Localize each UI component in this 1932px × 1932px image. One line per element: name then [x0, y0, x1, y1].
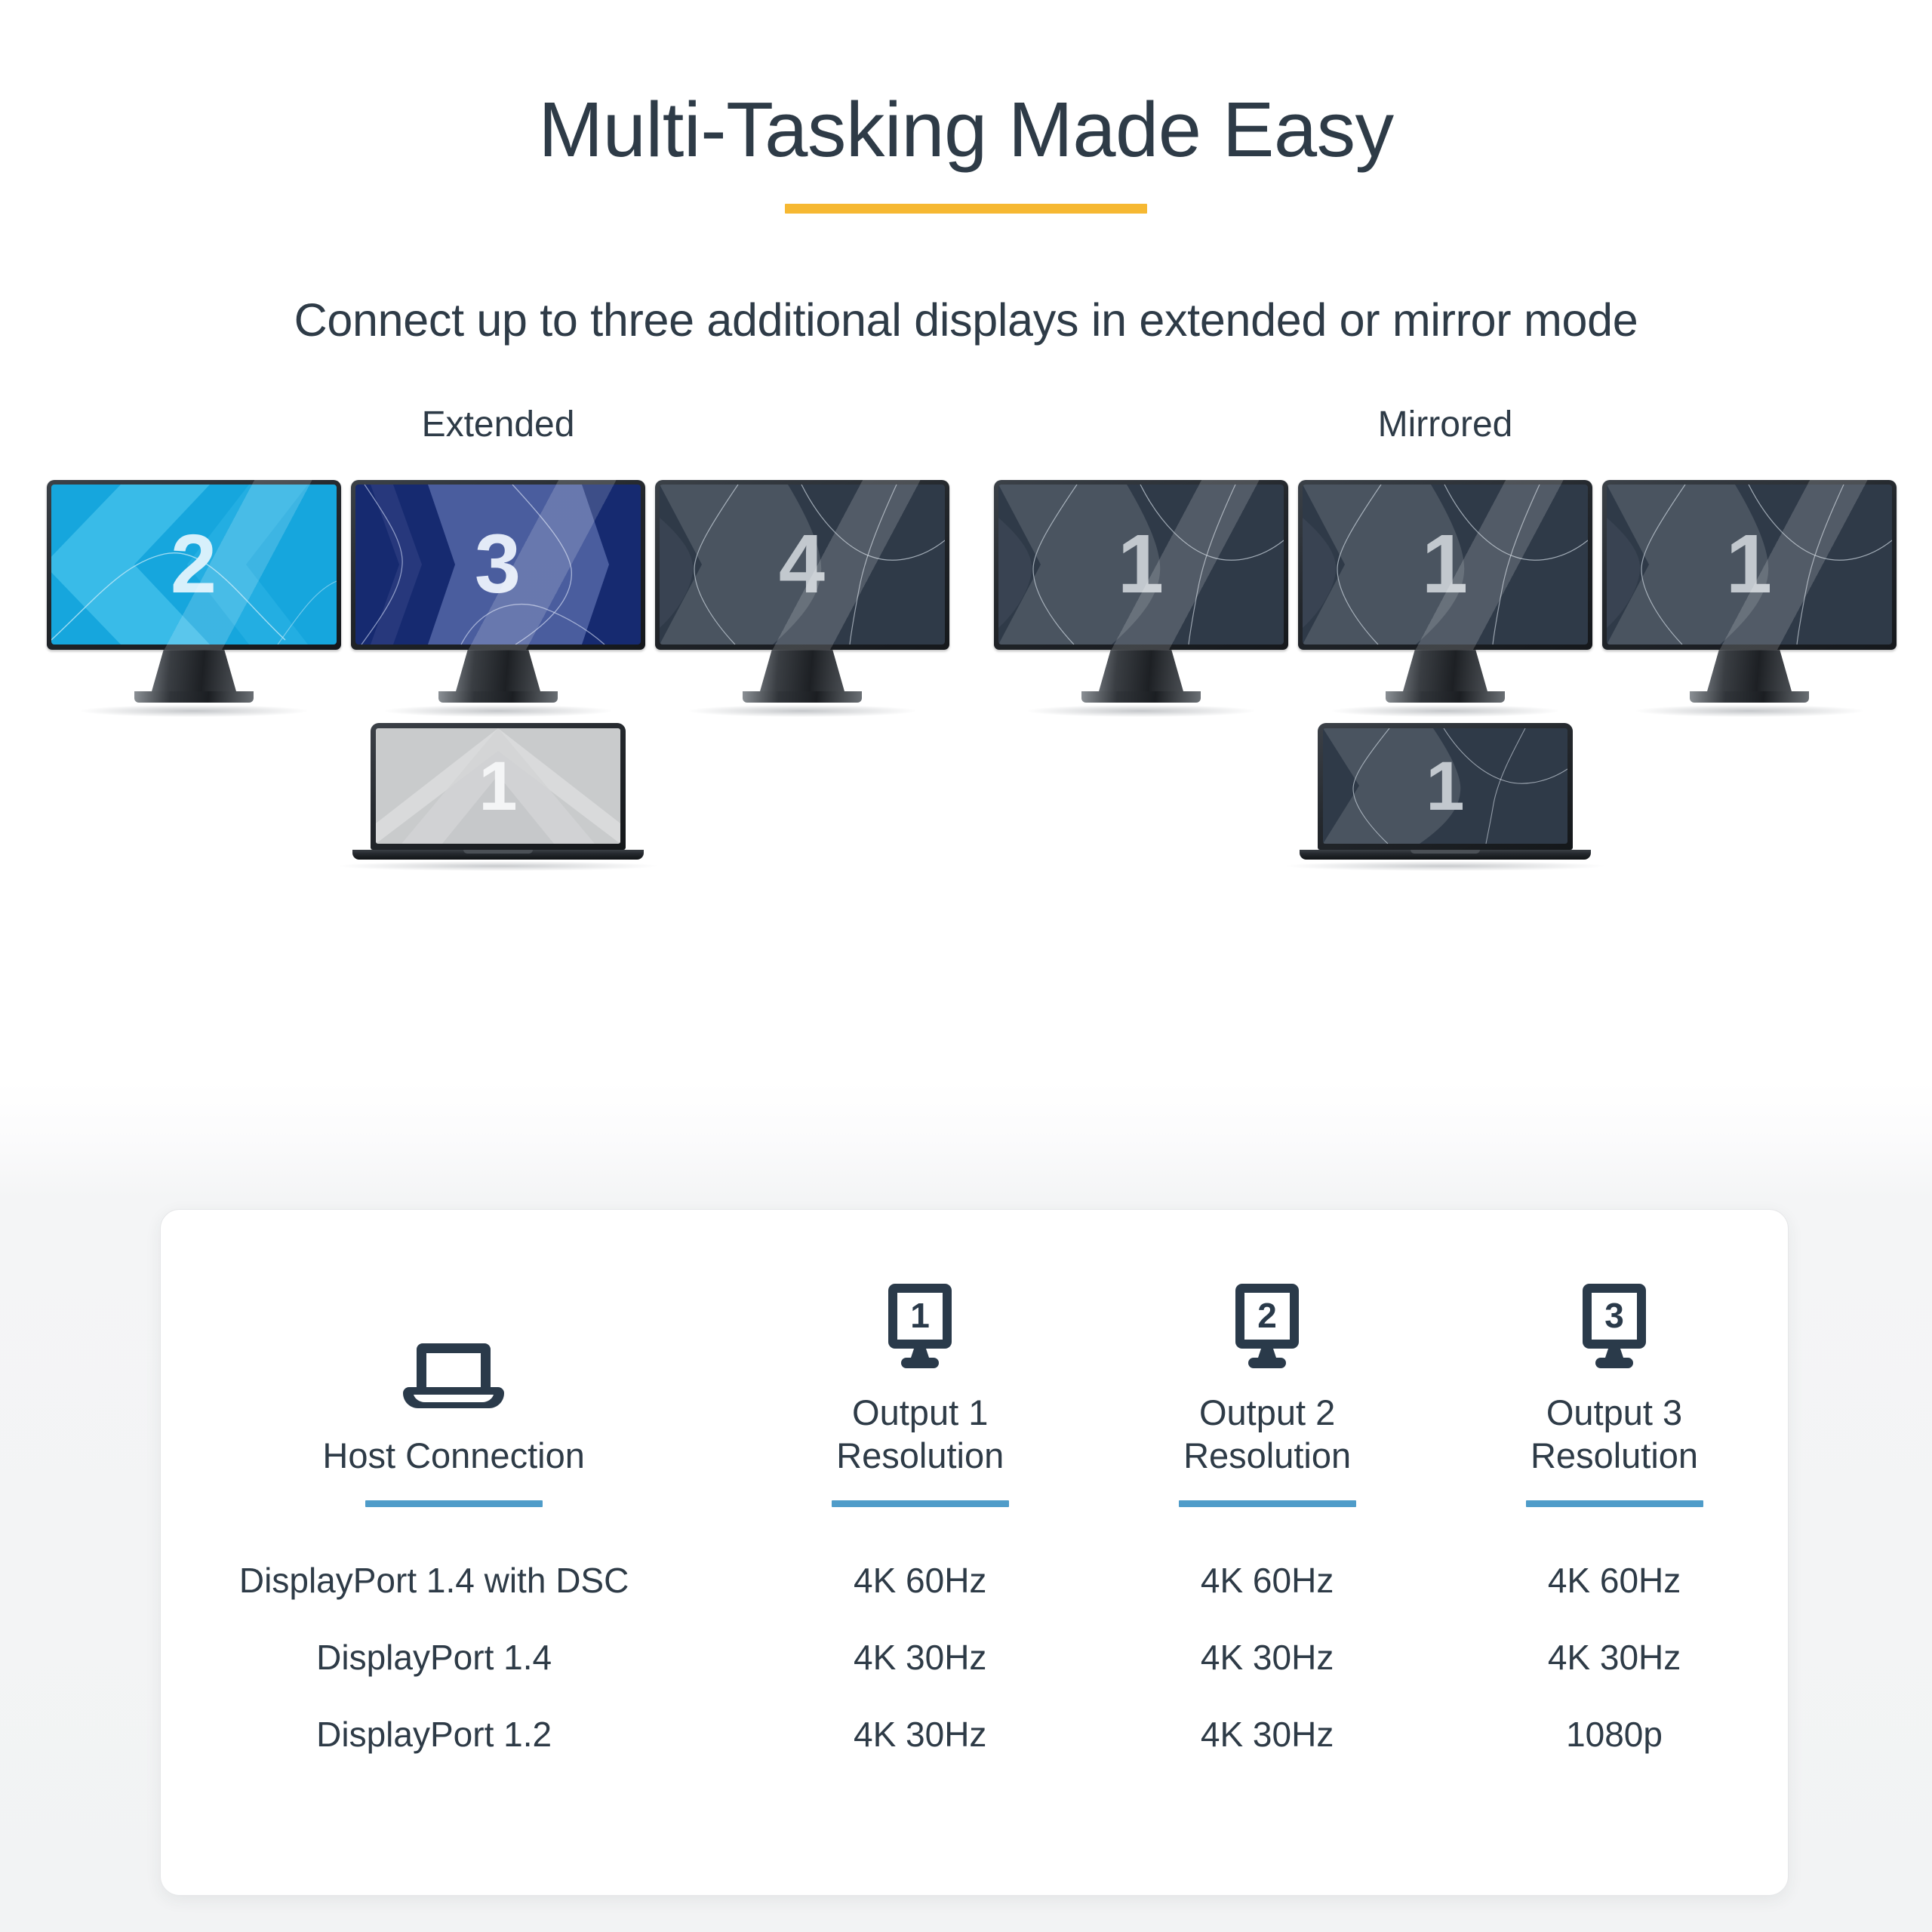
monitor-neck	[1403, 650, 1487, 691]
cell-output-3: 4K 30Hz	[1441, 1601, 1788, 1678]
monitor-base	[1690, 691, 1809, 703]
header-rule-wrap	[1441, 1478, 1788, 1510]
table-header-output-2: 2 Output 2 Resolution	[1094, 1210, 1441, 1510]
mode-label-extended: Extended	[45, 404, 951, 445]
monitor-row-extended: 2	[45, 480, 951, 717]
laptop-number: 1	[376, 752, 620, 821]
monitor-screen: 1	[1303, 485, 1588, 645]
monitor-bezel: 1	[994, 480, 1288, 650]
laptop-notch	[463, 850, 533, 854]
cell-output-3: 4K 60Hz	[1441, 1510, 1788, 1601]
page-header: Multi-Tasking Made Easy Connect up to th…	[0, 0, 1932, 346]
cell-output-1: 4K 30Hz	[746, 1678, 1094, 1755]
monitor-bezel: 1	[1602, 480, 1897, 650]
header-rule-wrap	[161, 1478, 746, 1510]
header-accent-rule	[832, 1500, 1009, 1507]
monitor-number: 4	[660, 523, 945, 606]
cell-output-1: 4K 60Hz	[746, 1510, 1094, 1601]
monitor-neck	[760, 650, 844, 691]
monitor-number: 1	[998, 523, 1284, 606]
monitor-icon: 1	[746, 1261, 1094, 1374]
resolution-table: Host Connection 1	[161, 1210, 1788, 1755]
monitor-screen: 3	[355, 485, 641, 645]
monitor-mirrored-1a: 1	[994, 480, 1288, 717]
page-subtitle: Connect up to three additional displays …	[0, 294, 1932, 346]
monitor-neck	[1099, 650, 1183, 691]
monitor-extended-4: 4	[655, 480, 949, 717]
header-accent-rule	[1179, 1500, 1356, 1507]
monitor-shadow	[1028, 705, 1254, 717]
table-header-label: Output 2 Resolution	[1094, 1391, 1441, 1478]
resolution-spec-card: Host Connection 1	[160, 1209, 1789, 1896]
monitor-number: 1	[1607, 523, 1892, 606]
cell-host-connection: DisplayPort 1.4 with DSC	[161, 1510, 746, 1601]
cell-output-2: 4K 30Hz	[1094, 1678, 1441, 1755]
monitor-mirrored-1c: 1	[1602, 480, 1897, 717]
table-header-output-3: 3 Output 3 Resolution	[1441, 1210, 1788, 1510]
table-header-host-connection: Host Connection	[161, 1210, 746, 1510]
monitor-bezel: 2	[47, 480, 341, 650]
cell-output-2: 4K 60Hz	[1094, 1510, 1441, 1601]
laptop-row-mirrored: 1	[992, 723, 1898, 871]
laptop-shadow	[1287, 861, 1604, 871]
title-accent-rule	[785, 204, 1147, 214]
laptop-base	[1300, 850, 1591, 860]
monitor-neck	[1707, 650, 1792, 691]
monitor-screen: 1	[1607, 485, 1892, 645]
header-rule-wrap	[1094, 1478, 1441, 1510]
monitor-base	[1081, 691, 1201, 703]
monitor-icon: 2	[1094, 1261, 1441, 1374]
page-title: Multi-Tasking Made Easy	[0, 89, 1932, 171]
cell-output-3: 1080p	[1441, 1678, 1788, 1755]
laptop-screen: 1	[376, 728, 620, 844]
monitor-row-mirrored: 1	[992, 480, 1898, 717]
mode-group-mirrored: Mirrored	[992, 404, 1898, 871]
monitor-extended-2: 2	[47, 480, 341, 717]
monitor-number: 3	[355, 523, 641, 606]
laptop-lid: 1	[371, 723, 626, 850]
table-row: DisplayPort 1.2 4K 30Hz 4K 30Hz 1080p	[161, 1678, 1788, 1755]
monitor-shadow	[81, 705, 307, 717]
table-header-label: Output 1 Resolution	[746, 1391, 1094, 1478]
table-header-label: Output 3 Resolution	[1441, 1391, 1788, 1478]
laptop-notch	[1411, 850, 1480, 854]
monitor-base	[134, 691, 254, 703]
header-accent-rule	[365, 1500, 543, 1507]
monitor-icon: 3	[1441, 1261, 1788, 1374]
header-rule-wrap	[746, 1478, 1094, 1510]
laptop-screen: 1	[1323, 728, 1567, 844]
monitor-icon-number: 1	[910, 1296, 930, 1335]
monitor-base	[1386, 691, 1505, 703]
table-row: DisplayPort 1.4 4K 30Hz 4K 30Hz 4K 30Hz	[161, 1601, 1788, 1678]
cell-output-2: 4K 30Hz	[1094, 1601, 1441, 1678]
mode-label-mirrored: Mirrored	[992, 404, 1898, 445]
monitor-bezel: 4	[655, 480, 949, 650]
monitor-number: 1	[1303, 523, 1588, 606]
monitor-mirrored-1b: 1	[1298, 480, 1592, 717]
monitor-base	[438, 691, 558, 703]
mode-group-extended: Extended 2	[45, 404, 951, 871]
monitor-neck	[152, 650, 236, 691]
monitor-extended-3: 3	[351, 480, 645, 717]
table-header-row: Host Connection 1	[161, 1210, 1788, 1510]
display-modes-diagram: Extended 2	[0, 404, 1932, 932]
monitor-number: 2	[51, 523, 337, 606]
laptop-icon	[161, 1304, 746, 1417]
monitor-shadow	[1332, 705, 1558, 717]
laptop-mirrored: 1	[1318, 723, 1573, 871]
monitor-shadow	[1636, 705, 1863, 717]
table-row: DisplayPort 1.4 with DSC 4K 60Hz 4K 60Hz…	[161, 1510, 1788, 1601]
table-header-output-1: 1 Output 1 Resolution	[746, 1210, 1094, 1510]
laptop-shadow	[340, 861, 657, 871]
monitor-icon-number: 2	[1257, 1296, 1277, 1335]
monitor-shadow	[689, 705, 915, 717]
cell-output-1: 4K 30Hz	[746, 1601, 1094, 1678]
monitor-screen: 1	[998, 485, 1284, 645]
monitor-bezel: 3	[351, 480, 645, 650]
laptop-number: 1	[1323, 752, 1567, 821]
monitor-icon-number: 3	[1604, 1296, 1624, 1335]
header-accent-rule	[1526, 1500, 1703, 1507]
laptop-extended: 1	[371, 723, 626, 871]
monitor-neck	[456, 650, 540, 691]
laptop-base	[352, 850, 644, 860]
monitor-screen: 2	[51, 485, 337, 645]
laptop-row-extended: 1	[45, 723, 951, 871]
laptop-lid: 1	[1318, 723, 1573, 850]
monitor-bezel: 1	[1298, 480, 1592, 650]
monitor-screen: 4	[660, 485, 945, 645]
monitor-shadow	[385, 705, 611, 717]
cell-host-connection: DisplayPort 1.4	[161, 1601, 746, 1678]
cell-host-connection: DisplayPort 1.2	[161, 1678, 746, 1755]
table-header-label: Host Connection	[161, 1434, 746, 1477]
monitor-base	[743, 691, 862, 703]
